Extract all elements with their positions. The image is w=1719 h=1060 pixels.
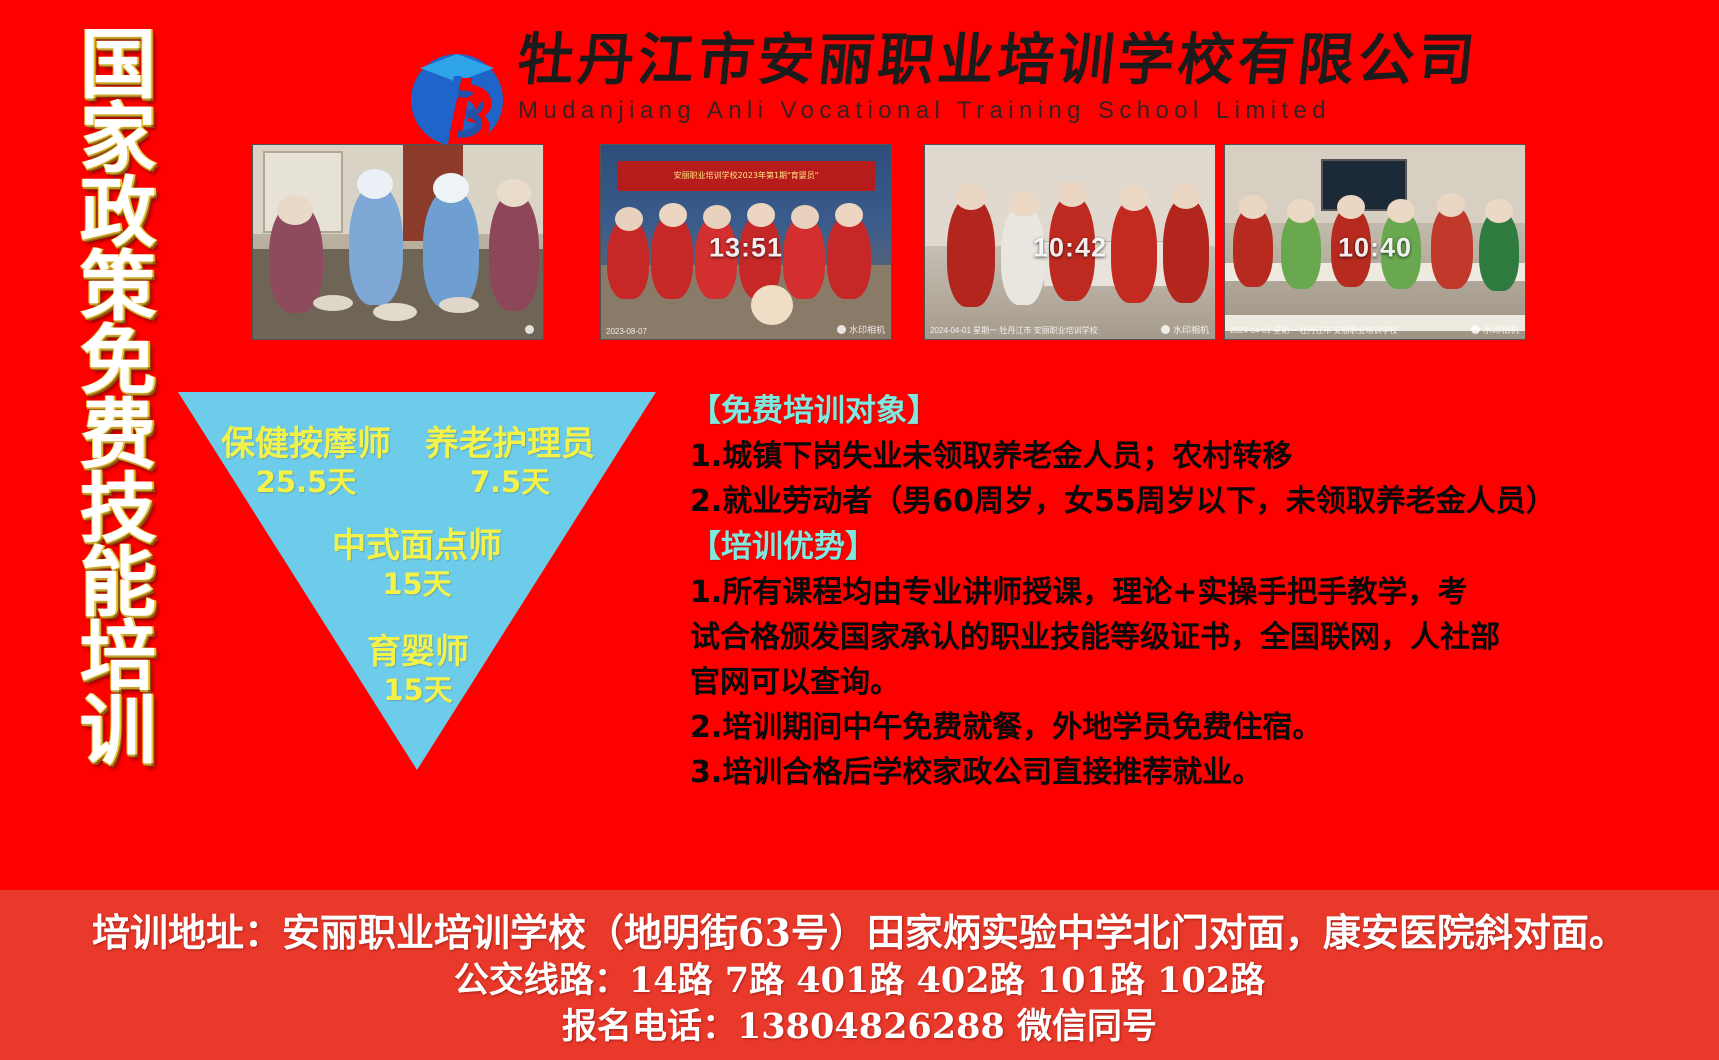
photo-watermark: 水印相机 bbox=[1161, 323, 1209, 336]
photo-timestamp: 10:42 bbox=[1033, 233, 1107, 264]
course-days: 7.5天 bbox=[410, 464, 610, 500]
watermark-icon bbox=[1471, 325, 1480, 334]
vtitle-char-7: 能 bbox=[80, 546, 156, 620]
triangle-labels: 保健按摩师 25.5天 养老护理员 7.5天 中式面点师 15天 育婴师 15天 bbox=[178, 392, 656, 770]
logo-text: 牡丹江市安丽职业培训学校有限公司 Mudanjiang Anli Vocatio… bbox=[518, 30, 1308, 126]
advantage-line-4: 3.培训合格后学校家政公司直接推荐就业。 bbox=[690, 750, 1700, 795]
footer-band: 培训地址：安丽职业培训学校（地明街63号）田家炳实验中学北门对面，康安医院斜对面… bbox=[0, 890, 1719, 1060]
course-item-0: 保健按摩师 25.5天 bbox=[206, 424, 406, 500]
vtitle-char-6: 技 bbox=[80, 472, 156, 546]
photo-watermark: 水印相机 bbox=[837, 323, 885, 336]
course-item-3: 育婴师 15天 bbox=[328, 632, 508, 708]
photo-timestamp: 10:40 bbox=[1338, 233, 1412, 264]
photo-timestamp: 13:51 bbox=[709, 233, 783, 264]
header: 牡丹江市安丽职业培训学校有限公司 Mudanjiang Anli Vocatio… bbox=[398, 24, 1298, 146]
section-heading-eligibility: 【免费培训对象】 bbox=[690, 388, 1700, 434]
photo-meta: 2024-04-01 星期一 牡丹江市 安丽职业培训学校 bbox=[930, 325, 1098, 336]
vtitle-char-3: 策 bbox=[80, 250, 156, 324]
photo-banner-text: 安丽职业培训学校2023年第1期"育婴员" bbox=[623, 169, 869, 182]
photo-group-graduation: 安丽职业培训学校2023年第1期"育婴员" 13:51 2023-08-07 水… bbox=[600, 144, 892, 340]
photo-watermark bbox=[525, 325, 537, 336]
photo-meta: 2023-08-07 bbox=[606, 327, 647, 336]
course-days: 15天 bbox=[328, 672, 508, 708]
photo-watermark: 水印相机 bbox=[1471, 323, 1519, 336]
course-item-1: 养老护理员 7.5天 bbox=[410, 424, 610, 500]
photo-scene bbox=[253, 145, 543, 339]
footer-address: 培训地址：安丽职业培训学校（地明街63号）田家炳实验中学北门对面，康安医院斜对面… bbox=[0, 890, 1719, 958]
vtitle-char-0: 国 bbox=[80, 28, 156, 102]
course-name: 中式面点师 bbox=[317, 526, 517, 566]
vtitle-char-4: 免 bbox=[80, 324, 156, 398]
photo-nursing-practice: 10:42 2024-04-01 星期一 牡丹江市 安丽职业培训学校 水印相机 bbox=[924, 144, 1216, 340]
course-days: 15天 bbox=[317, 566, 517, 602]
watermark-icon bbox=[1161, 325, 1170, 334]
watermark-icon bbox=[525, 325, 534, 334]
graduation-cap-emblem-icon bbox=[398, 32, 516, 150]
course-name: 保健按摩师 bbox=[206, 424, 406, 464]
courses-triangle: 保健按摩师 25.5天 养老护理员 7.5天 中式面点师 15天 育婴师 15天 bbox=[178, 392, 656, 770]
advantage-line-0: 1.所有课程均由专业讲师授课，理论+实操手把手教学，考 bbox=[690, 570, 1700, 615]
eligibility-line-0: 1.城镇下岗失业未领取养老金人员；农村转移 bbox=[690, 434, 1700, 479]
vertical-banner-title: 国 家 政 策 免 费 技 能 培 训 bbox=[62, 28, 174, 788]
footer-bus-routes: 公交线路：14路 7路 401路 402路 101路 102路 bbox=[0, 958, 1719, 1004]
vtitle-char-5: 费 bbox=[80, 398, 156, 472]
vtitle-char-1: 家 bbox=[80, 102, 156, 176]
course-days: 25.5天 bbox=[206, 464, 406, 500]
photo-strip: 安丽职业培训学校2023年第1期"育婴员" 13:51 2023-08-07 水… bbox=[252, 144, 1592, 338]
poster-root: 国 家 政 策 免 费 技 能 培 训 牡丹江市安丽职业培训学校有限公司 Mud… bbox=[0, 0, 1719, 1060]
vtitle-char-2: 政 bbox=[80, 176, 156, 250]
vtitle-char-8: 培 bbox=[80, 620, 156, 694]
info-column: 【免费培训对象】 1.城镇下岗失业未领取养老金人员；农村转移 2.就业劳动者（男… bbox=[690, 388, 1700, 795]
course-name: 养老护理员 bbox=[410, 424, 610, 464]
advantage-line-3: 2.培训期间中午免费就餐，外地学员免费住宿。 bbox=[690, 705, 1700, 750]
course-name: 育婴师 bbox=[328, 632, 508, 672]
watermark-icon bbox=[837, 325, 846, 334]
course-item-2: 中式面点师 15天 bbox=[317, 526, 517, 602]
advantage-line-2: 官网可以查询。 bbox=[690, 660, 1700, 705]
company-name-en: Mudanjiang Anli Vocational Training Scho… bbox=[518, 96, 1308, 126]
footer-phone: 报名电话：13804826288 微信同号 bbox=[0, 1004, 1719, 1050]
photo-meta: 2024-04-01 星期一 牡丹江市 安丽职业培训学校 bbox=[1230, 325, 1398, 336]
advantage-line-1: 试合格颁发国家承认的职业技能等级证书，全国联网，人社部 bbox=[690, 615, 1700, 660]
vtitle-char-9: 训 bbox=[80, 694, 156, 768]
photo-classroom-training: 10:40 2024-04-01 星期一 牡丹江市 安丽职业培训学校 水印相机 bbox=[1224, 144, 1526, 340]
eligibility-line-1: 2.就业劳动者（男60周岁，女55周岁以下，未领取养老金人员） bbox=[690, 479, 1700, 524]
section-heading-advantages: 【培训优势】 bbox=[690, 524, 1700, 570]
company-name-cn: 牡丹江市安丽职业培训学校有限公司 bbox=[515, 30, 1312, 92]
photo-cooking-class bbox=[252, 144, 544, 340]
